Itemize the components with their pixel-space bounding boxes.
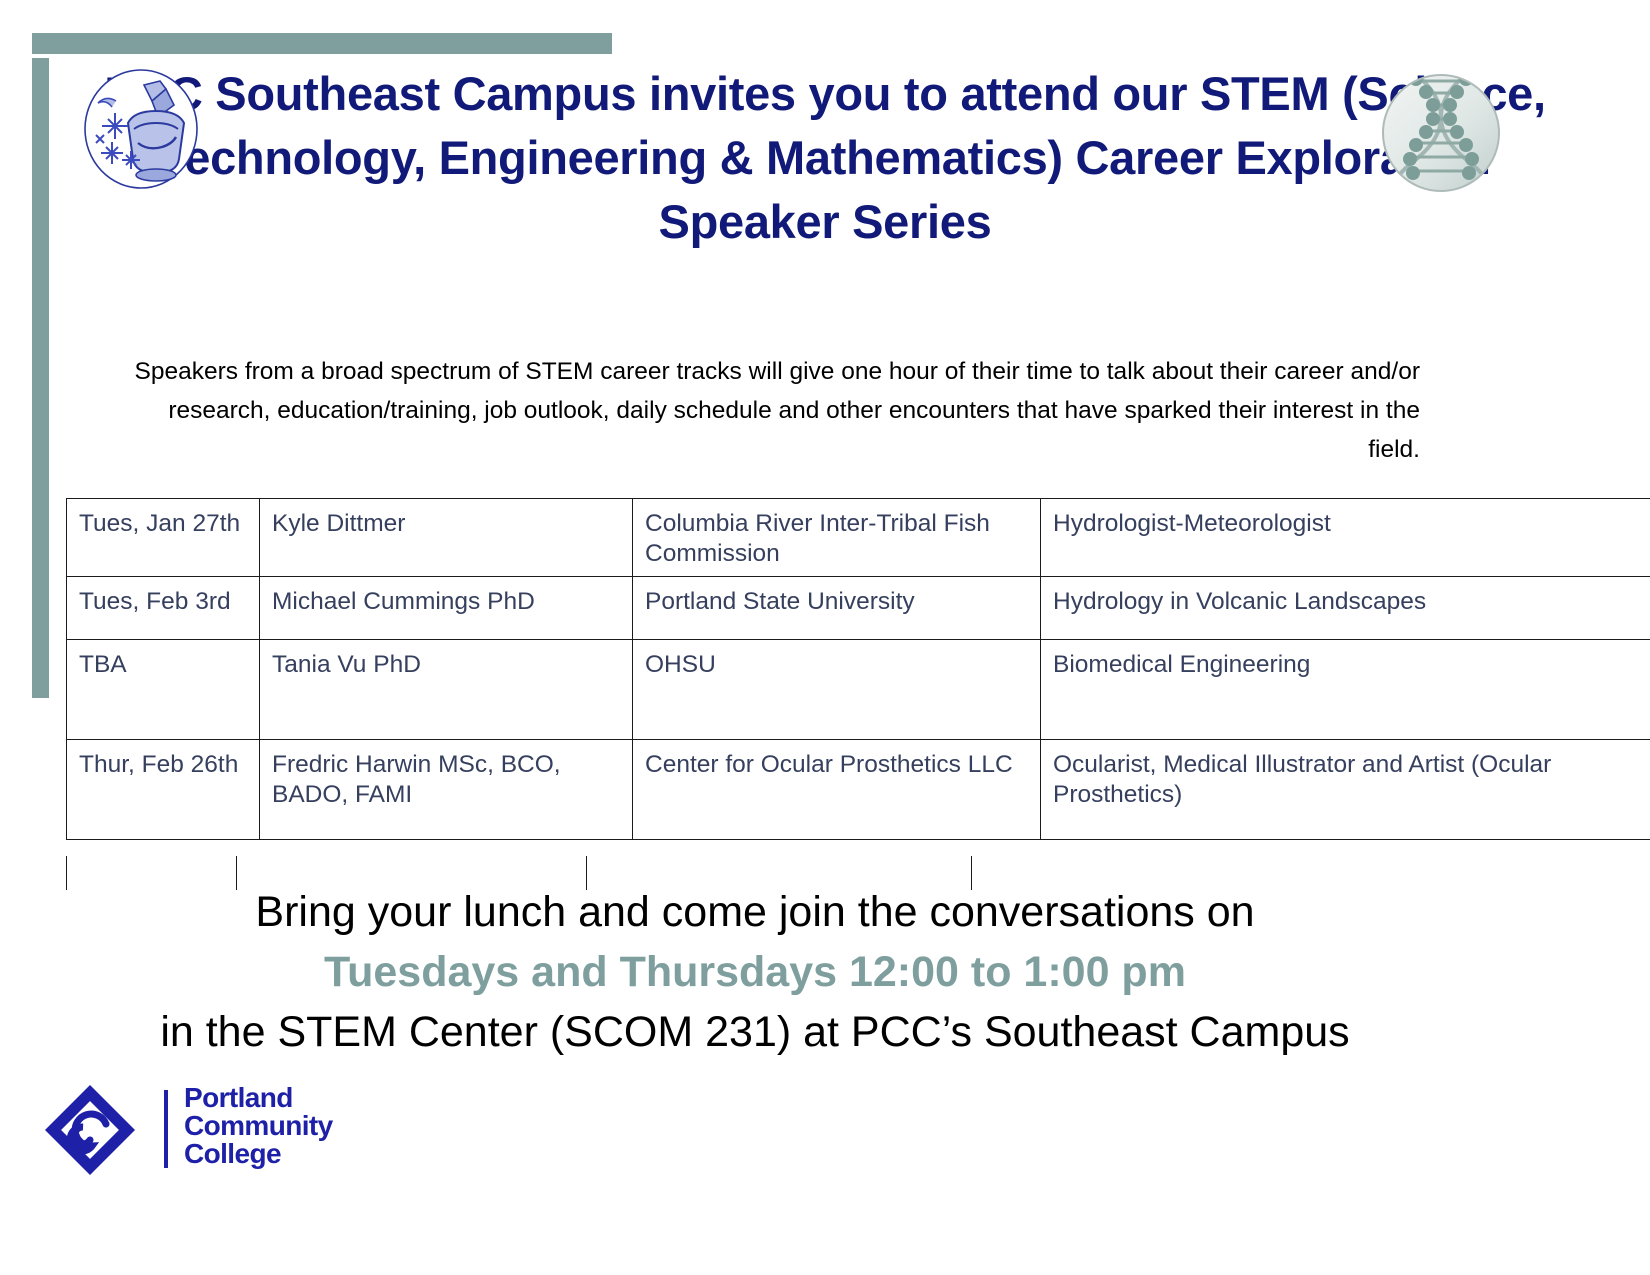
logo-word-3: College [184,1140,374,1168]
pcc-logo: Portland Community College [42,1078,362,1186]
decorative-top-bar [32,33,612,54]
closing-line-3: in the STEM Center (SCOM 231) at PCC’s S… [60,1002,1450,1062]
logo-wordmark: Portland Community College [184,1084,374,1168]
cell-topic: Biomedical Engineering [1041,640,1650,740]
table-row: Tues, Feb 3rd Michael Cummings PhD Portl… [67,577,1650,640]
table-row: Thur, Feb 26th Fredric Harwin MSc, BCO, … [67,740,1650,840]
cell-speaker: Kyle Dittmer [260,499,633,577]
cell-organization: Center for Ocular Prosthetics LLC [633,740,1041,840]
logo-word-2: Community [184,1112,374,1140]
cell-date: Tues, Jan 27th [67,499,260,577]
cell-organization: Portland State University [633,577,1041,640]
logo-divider [164,1090,168,1168]
table-row: TBA Tania Vu PhD OHSU Biomedical Enginee… [67,640,1650,740]
page-title: PCC Southeast Campus invites you to atte… [75,62,1575,254]
cell-speaker: Tania Vu PhD [260,640,633,740]
speaker-schedule-table: Tues, Jan 27th Kyle Dittmer Columbia Riv… [66,498,1566,840]
intro-paragraph: Speakers from a broad spectrum of STEM c… [110,352,1420,469]
table-row: Tues, Jan 27th Kyle Dittmer Columbia Riv… [67,499,1650,577]
poster-header: PCC Southeast Campus invites you to atte… [75,62,1575,277]
cell-speaker: Michael Cummings PhD [260,577,633,640]
logo-word-1: Portland [184,1084,374,1112]
cell-speaker: Fredric Harwin MSc, BCO, BADO, FAMI [260,740,633,840]
cell-date: Thur, Feb 26th [67,740,260,840]
decorative-left-bar [32,58,49,698]
cell-topic: Hydrologist-Meteorologist [1041,499,1650,577]
closing-line-1: Bring your lunch and come join the conve… [60,882,1450,942]
closing-block: Bring your lunch and come join the conve… [60,882,1450,1062]
cell-organization: Columbia River Inter-Tribal Fish Commiss… [633,499,1041,577]
cell-date: TBA [67,640,260,740]
cell-topic: Hydrology in Volcanic Landscapes [1041,577,1650,640]
closing-line-2-highlight: Tuesdays and Thursdays 12:00 to 1:00 pm [60,942,1450,1002]
pcc-diamond-spiral-icon [42,1082,138,1178]
poster-canvas: PCC Southeast Campus invites you to atte… [0,0,1650,1275]
cell-date: Tues, Feb 3rd [67,577,260,640]
cell-organization: OHSU [633,640,1041,740]
mortar-and-pestle-icon [82,67,200,192]
dna-helix-icon [1380,67,1502,199]
cell-topic: Ocularist, Medical Illustrator and Artis… [1041,740,1650,840]
